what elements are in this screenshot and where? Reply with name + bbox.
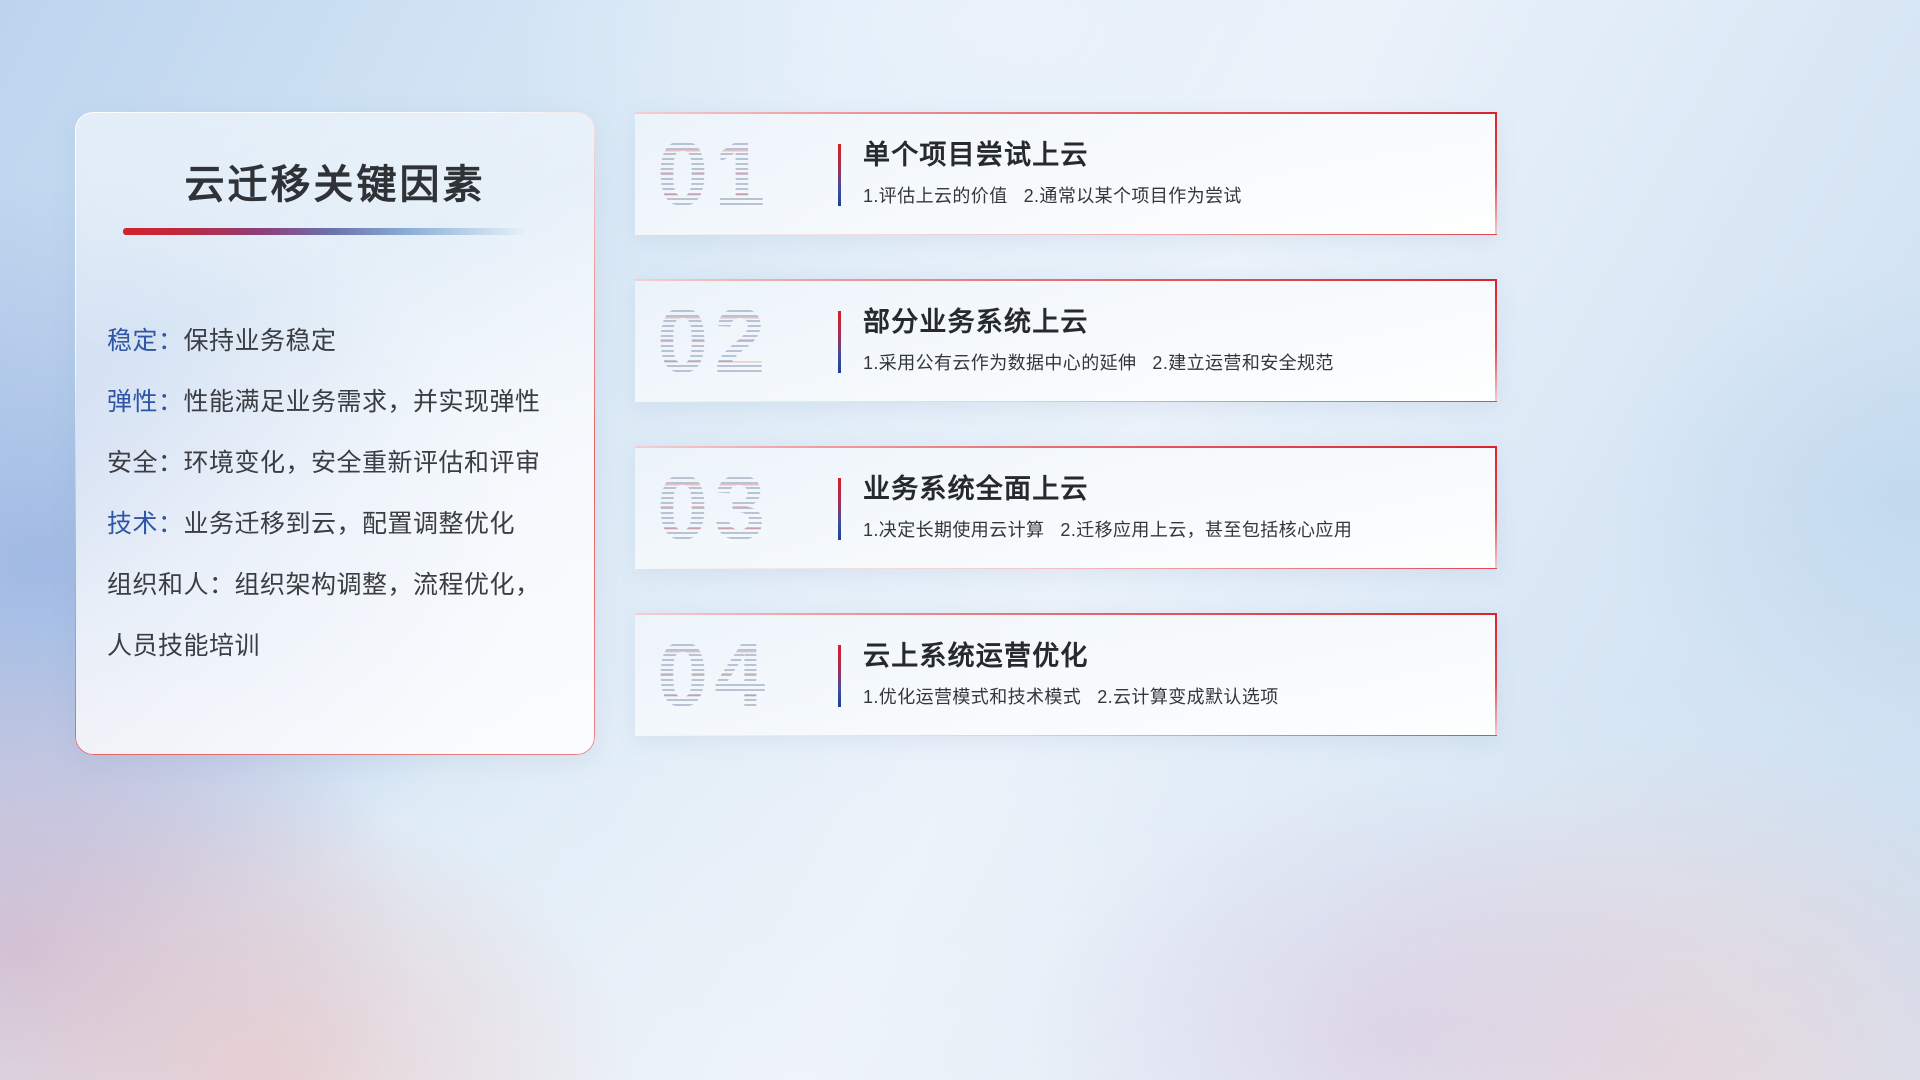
list-item-text: 性能满足业务需求，并实现弹性 [184, 382, 541, 418]
list-item-label: 弹性： [107, 382, 184, 418]
list-item-label: 安全： [107, 443, 184, 479]
stage-point-1: 1.评估上云的价值 [863, 186, 1008, 206]
card-top-accent [635, 613, 1497, 615]
stage-point-2: 2.建立运营和安全规范 [1152, 353, 1333, 373]
stage-point-2: 2.云计算变成默认选项 [1097, 687, 1278, 707]
card-divider-bar [838, 478, 841, 540]
list-item: 安全： 环境变化，安全重新评估和评审 [107, 430, 581, 491]
card-right-accent [1495, 613, 1497, 736]
stage-number-watermark: 02 [657, 295, 771, 387]
list-item-text: 业务迁移到云，配置调整优化 [184, 504, 516, 540]
stage-title: 部分业务系统上云 [863, 306, 1473, 338]
card-top-accent [635, 279, 1497, 281]
card-bottom-accent [635, 568, 1497, 570]
stage-title: 业务系统全面上云 [863, 473, 1473, 505]
stage-point-1: 1.决定长期使用云计算 [863, 520, 1044, 540]
stage-description: 1.决定长期使用云计算2.迁移应用上云，甚至包括核心应用 [863, 516, 1473, 542]
stage-point-2: 2.迁移应用上云，甚至包括核心应用 [1060, 520, 1352, 540]
stage-card[interactable]: 01 01 单个项目尝试上云 1.评估上云的价值2.通常以某个项目作为尝试 [635, 112, 1497, 235]
card-bottom-accent [635, 401, 1497, 403]
list-item: 人员技能培训 [107, 613, 581, 674]
stage-title: 单个项目尝试上云 [863, 139, 1473, 171]
key-factors-panel: 云迁移关键因素 稳定： 保持业务稳定 弹性： 性能满足业务需求，并实现弹性 安全… [75, 112, 595, 755]
card-right-accent [1495, 279, 1497, 402]
stage-number-watermark: 03 [657, 462, 771, 554]
card-top-accent [635, 112, 1497, 114]
card-top-accent [635, 446, 1497, 448]
page-title: 云迁移关键因素 [75, 152, 595, 210]
stage-point-1: 1.优化运营模式和技术模式 [863, 687, 1081, 707]
card-bottom-accent [635, 234, 1497, 236]
stage-card[interactable]: 04 04 云上系统运营优化 1.优化运营模式和技术模式2.云计算变成默认选项 [635, 613, 1497, 736]
key-factors-list: 稳定： 保持业务稳定 弹性： 性能满足业务需求，并实现弹性 安全： 环境变化，安… [107, 308, 581, 674]
list-item-text: 人员技能培训 [107, 626, 260, 662]
list-item-label: 组织和人： [107, 565, 235, 601]
stage-description: 1.优化运营模式和技术模式2.云计算变成默认选项 [863, 683, 1473, 709]
stage-card[interactable]: 02 02 部分业务系统上云 1.采用公有云作为数据中心的延伸2.建立运营和安全… [635, 279, 1497, 402]
list-item: 稳定： 保持业务稳定 [107, 308, 581, 369]
stage-number-watermark: 04 [657, 629, 771, 721]
list-item-label: 技术： [107, 504, 184, 540]
list-item: 组织和人： 组织架构调整，流程优化， [107, 552, 581, 613]
list-item-text: 保持业务稳定 [184, 321, 337, 357]
card-divider-bar [838, 144, 841, 206]
card-right-accent [1495, 446, 1497, 569]
stage-point-2: 2.通常以某个项目作为尝试 [1024, 186, 1242, 206]
stage-point-1: 1.采用公有云作为数据中心的延伸 [863, 353, 1136, 373]
stage-title: 云上系统运营优化 [863, 640, 1473, 672]
list-item: 弹性： 性能满足业务需求，并实现弹性 [107, 369, 581, 430]
stage-description: 1.采用公有云作为数据中心的延伸2.建立运营和安全规范 [863, 349, 1473, 375]
migration-stage-cards: 01 01 单个项目尝试上云 1.评估上云的价值2.通常以某个项目作为尝试 02… [635, 112, 1497, 736]
card-bottom-accent [635, 735, 1497, 737]
list-item: 技术： 业务迁移到云，配置调整优化 [107, 491, 581, 552]
list-item-label: 稳定： [107, 321, 184, 357]
stage-card[interactable]: 03 03 业务系统全面上云 1.决定长期使用云计算2.迁移应用上云，甚至包括核… [635, 446, 1497, 569]
title-underline-accent [123, 228, 527, 235]
stage-description: 1.评估上云的价值2.通常以某个项目作为尝试 [863, 182, 1473, 208]
list-item-text: 环境变化，安全重新评估和评审 [184, 443, 541, 479]
card-divider-bar [838, 311, 841, 373]
list-item-text: 组织架构调整，流程优化， [235, 565, 541, 601]
card-right-accent [1495, 112, 1497, 235]
stage-number-watermark: 01 [657, 128, 771, 220]
card-divider-bar [838, 645, 841, 707]
